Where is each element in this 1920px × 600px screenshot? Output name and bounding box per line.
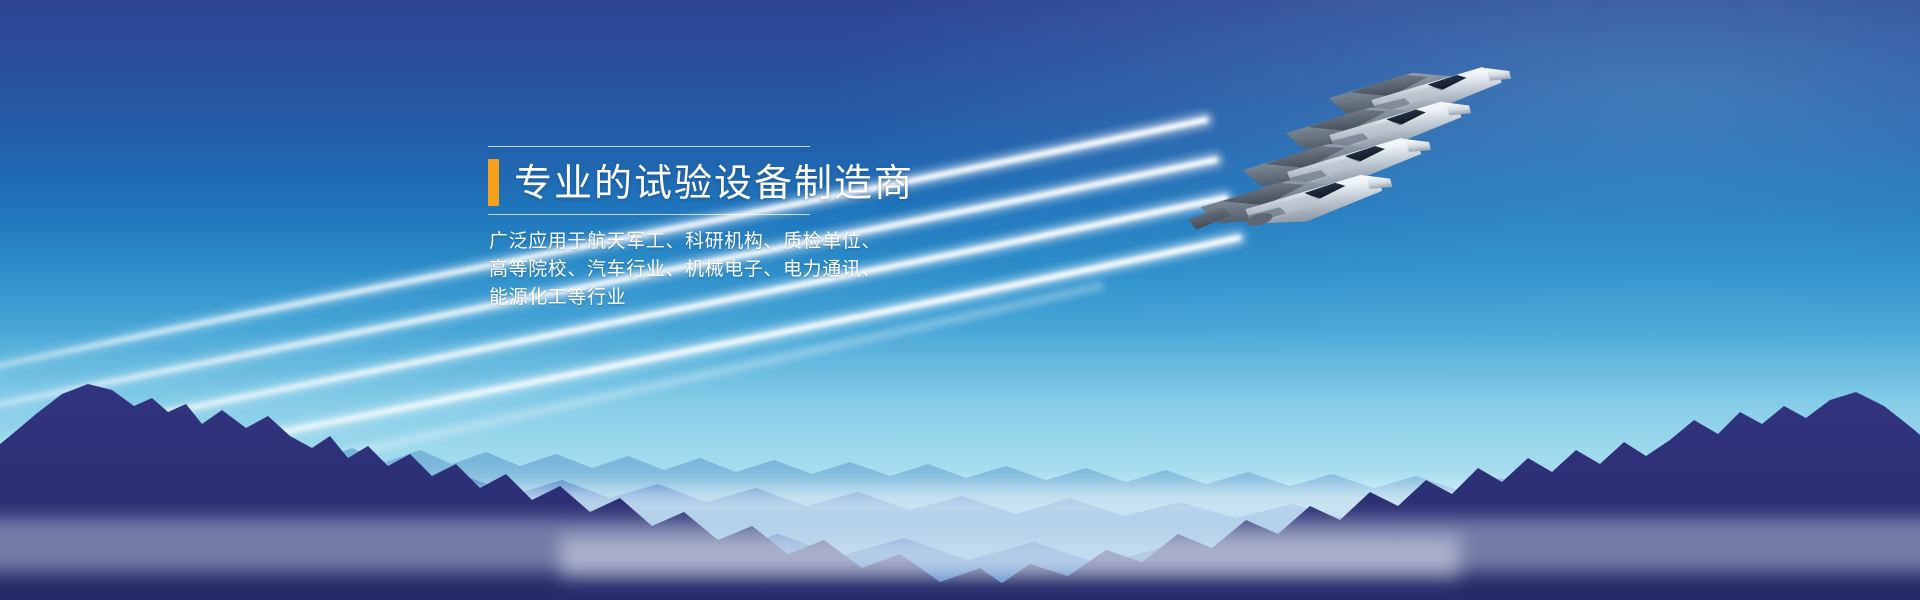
subtitle-block: 广泛应用于航天军工、科研机构、质检单位、 高等院校、汽车行业、机械电子、电力通讯… xyxy=(489,227,918,311)
sky-gradient-background xyxy=(0,0,1920,600)
headline-row: 专业的试验设备制造商 xyxy=(488,159,918,206)
bottom-divider-rule xyxy=(488,214,810,215)
page-title: 专业的试验设备制造商 xyxy=(514,160,914,206)
hero-copy-block: 专业的试验设备制造商 广泛应用于航天军工、科研机构、质检单位、 高等院校、汽车行… xyxy=(488,146,918,311)
subtitle-line-1: 广泛应用于航天军工、科研机构、质检单位、 xyxy=(489,227,918,255)
hero-banner: 专业的试验设备制造商 广泛应用于航天军工、科研机构、质检单位、 高等院校、汽车行… xyxy=(0,0,1920,600)
top-divider-rule xyxy=(488,146,810,147)
subtitle-line-3: 能源化工等行业 xyxy=(489,283,918,311)
orange-accent-bar xyxy=(488,159,499,206)
subtitle-line-2: 高等院校、汽车行业、机械电子、电力通讯、 xyxy=(489,255,918,283)
